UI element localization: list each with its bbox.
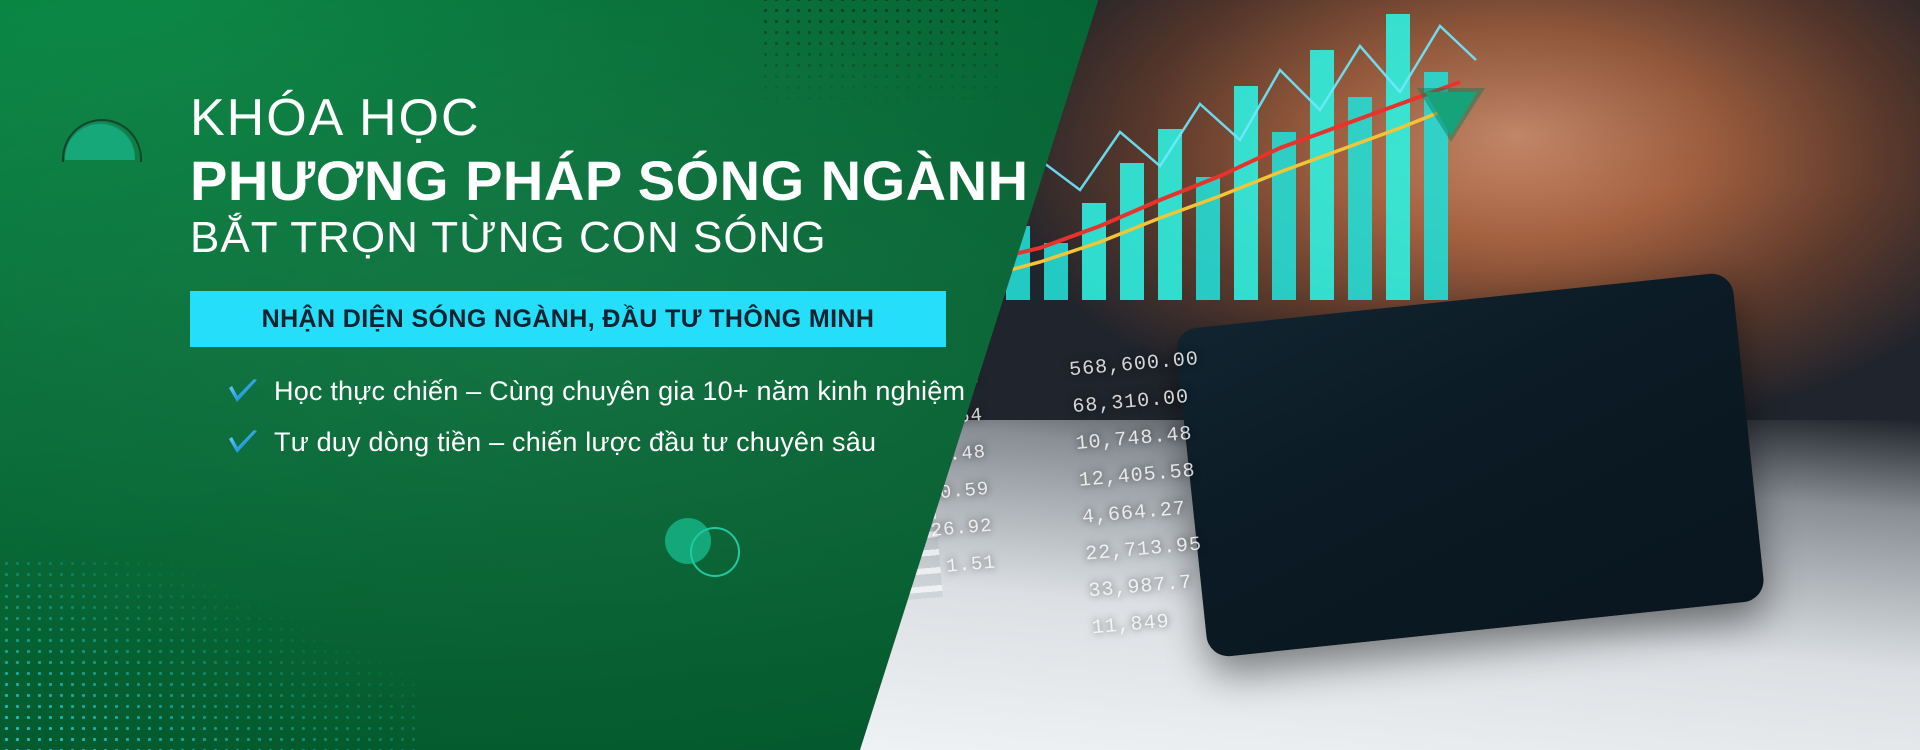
ticker-right: 33,987.7 bbox=[1088, 571, 1194, 603]
ticker-right: 4,664.27 bbox=[1081, 498, 1187, 530]
subtitle: BẮT TRỌN TỪNG CON SÓNG bbox=[190, 216, 827, 260]
cta-banner[interactable]: NHẬN DIỆN SÓNG NGÀNH, ĐẦU TƯ THÔNG MINH bbox=[190, 291, 946, 347]
triangle-shape-icon bbox=[1425, 92, 1477, 136]
ticker-right: 11,849 bbox=[1091, 611, 1171, 641]
cta-label: NHẬN DIỆN SÓNG NGÀNH, ĐẦU TƯ THÔNG MINH bbox=[262, 305, 875, 334]
check-icon bbox=[228, 379, 258, 405]
check-icon bbox=[228, 430, 258, 456]
list-item-label: Tư duy dòng tiền – chiến lược đầu tư chu… bbox=[274, 427, 876, 458]
list-item: Tư duy dòng tiền – chiến lược đầu tư chu… bbox=[228, 427, 965, 458]
page-title: PHƯƠNG PHÁP SÓNG NGÀNH bbox=[190, 152, 1029, 211]
ticker-right: 10,748.48 bbox=[1075, 423, 1194, 456]
list-item-label: Học thực chiến – Cùng chuyên gia 10+ năm… bbox=[274, 376, 965, 407]
ticker-right: 68,310.00 bbox=[1072, 386, 1191, 419]
text-content: KHÓA HỌC PHƯƠNG PHÁP SÓNG NGÀNH BẮT TRỌN… bbox=[0, 0, 1000, 750]
ticker-right: 22,713.95 bbox=[1084, 533, 1203, 566]
ticker-right: 12,405.58 bbox=[1078, 460, 1197, 493]
course-promo-banner: 66.83568,600.00 27.6468,310.00 46.4810,7… bbox=[0, 0, 1920, 750]
benefits-list: Học thực chiến – Cùng chuyên gia 10+ năm… bbox=[228, 376, 965, 478]
list-item: Học thực chiến – Cùng chuyên gia 10+ năm… bbox=[228, 376, 965, 407]
kicker-text: KHÓA HỌC bbox=[190, 92, 481, 144]
